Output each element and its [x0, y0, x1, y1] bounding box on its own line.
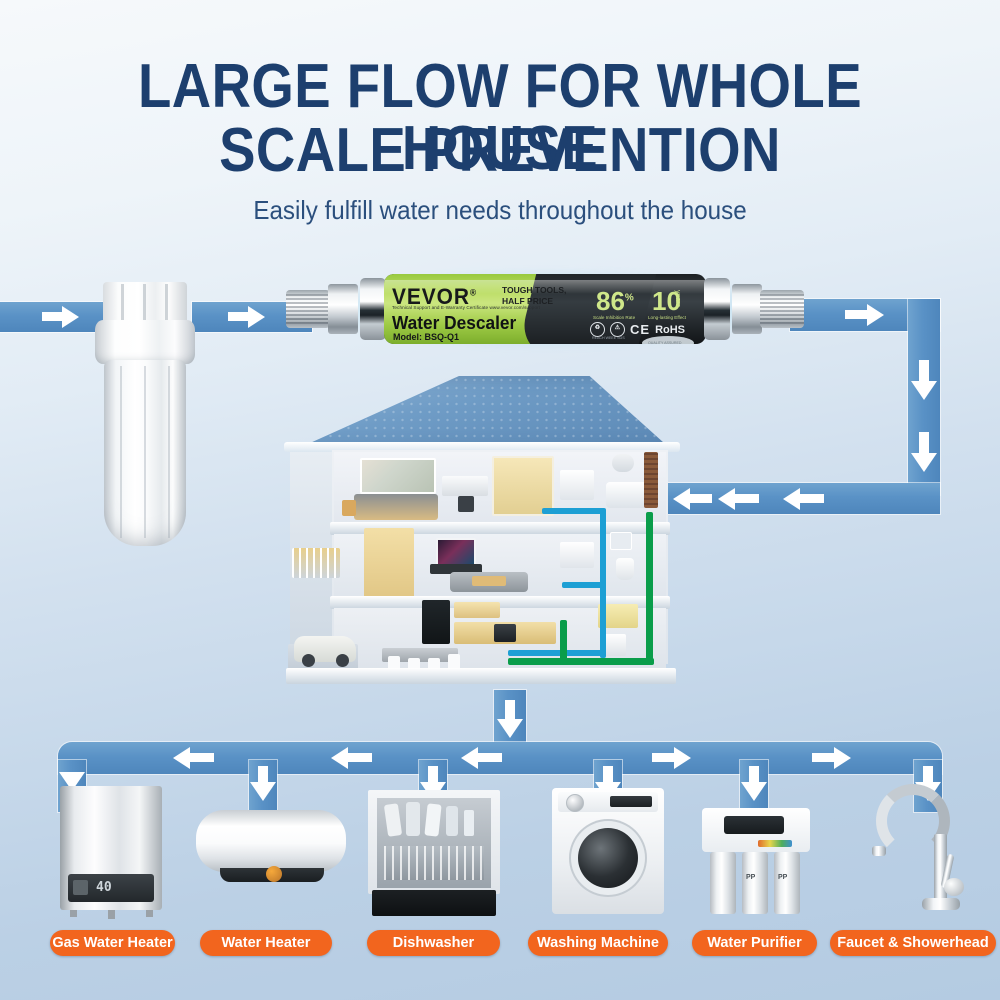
car-wheel	[302, 654, 315, 667]
flow-arrow-left	[783, 488, 800, 510]
stat-1-caption: Scale Inhibition Rate	[593, 315, 635, 320]
arrow-stem	[478, 753, 502, 762]
flow-arrow-down	[741, 782, 767, 801]
faucet-handle-cap	[944, 878, 964, 896]
wp-filter-cartridge	[774, 852, 800, 914]
dw-door-panel	[372, 890, 496, 916]
whole-house-prefilter	[95, 282, 195, 550]
gwh-leg	[146, 910, 153, 917]
nightstand	[342, 500, 356, 516]
outlet-hex-nut	[732, 284, 762, 334]
infographic-canvas: LARGE FLOW FOR WHOLE HOUSE SCALE PREVENT…	[0, 0, 1000, 1000]
product-model-block: Model: BSQ-Q1 Made In China	[393, 332, 459, 344]
brand-tagline: TOUGH TOOLS, HALF PRICE	[502, 285, 566, 306]
tv	[436, 538, 476, 566]
arrow-stem	[42, 312, 64, 321]
dw-lower-rack	[384, 846, 484, 880]
toilet	[616, 558, 634, 580]
appliance-label-water-purifier[interactable]: Water Purifier	[692, 930, 817, 956]
dw-glass	[464, 810, 474, 836]
gwh-temperature-display: 40	[96, 880, 112, 895]
towel-rack	[612, 454, 634, 472]
appliance-label-faucet-showerhead[interactable]: Faucet & Showerhead	[830, 930, 996, 956]
cutaway-house-illustration	[272, 372, 692, 702]
arrow-stem	[690, 494, 712, 503]
bed	[354, 494, 438, 520]
flow-arrow-left	[173, 747, 190, 769]
house-roof	[290, 376, 674, 452]
flow-arrow-down	[250, 782, 276, 801]
flow-arrow-left	[331, 747, 348, 769]
wh-knob	[266, 866, 282, 882]
wp-display	[724, 816, 784, 834]
water-purifier-icon: PP PP	[702, 808, 810, 920]
desk	[442, 476, 488, 496]
water-descaler-device: VEVOR® TOUGH TOOLS, HALF PRICE Technical…	[286, 260, 804, 358]
arrow-stem	[812, 753, 836, 762]
flow-arrow-right	[62, 306, 79, 328]
kitchen-upper-cabinet	[454, 602, 500, 618]
indoor-hot-pipe-bottom	[508, 658, 654, 665]
prefilter-bowl	[104, 360, 186, 546]
coffee-table	[472, 576, 506, 586]
product-name: Water Descaler	[392, 313, 516, 334]
indoor-cold-pipe-branch	[562, 582, 604, 588]
flow-arrow-right	[674, 747, 691, 769]
house-base-slab	[286, 668, 676, 684]
stat-1-value: 86	[596, 286, 625, 316]
device-label-body: VEVOR® TOUGH TOOLS, HALF PRICE Technical…	[384, 274, 706, 344]
gwh-burner-icon	[73, 880, 88, 895]
inlet-chrome-ring	[360, 278, 386, 340]
bathroom-vanity-middle	[560, 542, 594, 568]
wm-dial	[566, 794, 584, 812]
product-origin: Made In China	[393, 343, 459, 344]
flow-arrow-down	[911, 381, 937, 400]
flow-arrow-right	[248, 306, 265, 328]
indoor-hot-pipe-riser	[560, 620, 567, 664]
arrow-stem	[800, 494, 824, 503]
tagline-line-1: TOUGH TOOLS,	[502, 285, 566, 296]
ce-mark: CE	[630, 322, 650, 337]
arrow-stem	[348, 753, 372, 762]
brick-wall-detail	[644, 452, 658, 508]
flow-arrow-right	[834, 747, 851, 769]
indoor-cold-pipe-top	[542, 508, 604, 514]
flow-arrow-left	[461, 747, 478, 769]
flow-arrow-down	[497, 719, 523, 738]
wp-filter-cartridge	[710, 852, 736, 914]
quality-seal-text: QUALITY ASSURED	[648, 341, 682, 344]
arrow-stem	[735, 494, 759, 503]
prefilter-cap	[103, 282, 187, 324]
inlet-hex-nut	[328, 284, 358, 334]
weee-icon: ⚠	[610, 322, 625, 337]
gas-water-heater-icon: 40	[56, 786, 166, 916]
desk-chair	[458, 496, 474, 512]
arrow-stem	[845, 310, 869, 319]
wall-art	[360, 458, 436, 494]
indoor-cold-pipe-lower	[508, 650, 604, 656]
stat-1-unit: %	[625, 292, 634, 303]
support-text: Technical Support and E-Warranty Certifi…	[392, 305, 540, 310]
stat-1-value-group: 86%	[596, 288, 634, 314]
faucet-icon	[862, 780, 972, 920]
gwh-leg	[108, 910, 115, 919]
wm-door	[578, 828, 638, 888]
bathroom-vanity-upper	[560, 470, 594, 500]
wp-cartridge-label: PP	[778, 874, 787, 881]
cert-small-text: REACH WEEE SGS	[592, 336, 625, 340]
arrow-stem	[190, 753, 214, 762]
appliance-label-gas-water-heater[interactable]: Gas Water Heater	[50, 930, 175, 956]
faucet-base	[922, 898, 960, 910]
flow-arrow-down	[911, 453, 937, 472]
certification-marks: ♻ ⚠ CE RoHS	[590, 322, 685, 337]
headline-line-2: SCALE PREVENTION	[60, 120, 940, 182]
washing-machine-icon	[552, 788, 664, 918]
wp-cartridge-label: PP	[746, 874, 755, 881]
wp-filter-cartridge	[742, 852, 768, 914]
stat-2-caption: Long-lasting Effect	[648, 315, 686, 320]
product-model: Model: BSQ-Q1	[393, 332, 459, 343]
oven	[494, 624, 516, 642]
flow-arrow-left	[718, 488, 735, 510]
wh-tank-body	[196, 810, 346, 872]
appliance-label-row: Gas Water Heater Water Heater Dishwasher…	[0, 930, 1000, 956]
refrigerator	[422, 600, 450, 644]
dw-dish	[446, 806, 458, 836]
outlet-thread-nipple	[760, 290, 804, 328]
wp-indicator-strip	[758, 840, 792, 847]
appliance-label-dishwasher[interactable]: Dishwasher	[367, 930, 500, 956]
wardrobe	[492, 456, 554, 516]
indoor-hot-pipe-vertical	[646, 512, 653, 664]
stat-2-unit: years	[674, 290, 681, 307]
appliance-label-washing-machine[interactable]: Washing Machine	[528, 930, 668, 956]
flow-arrow-right	[867, 304, 884, 326]
dishwasher-icon	[368, 790, 500, 918]
rohs-mark: RoHS	[655, 324, 685, 336]
mirror-middle	[610, 532, 632, 550]
gwh-leg	[70, 910, 77, 917]
inlet-thread-nipple	[286, 290, 330, 328]
car-wheel	[336, 654, 349, 667]
recycle-icon: ♻	[590, 322, 605, 337]
registered-mark: ®	[470, 288, 477, 298]
prefilter-collar	[95, 320, 195, 364]
water-heater-icon	[196, 810, 346, 910]
wm-display	[610, 796, 652, 807]
arrow-stem	[228, 312, 250, 321]
arrow-stem	[652, 753, 676, 762]
appliance-label-water-heater[interactable]: Water Heater	[200, 930, 332, 956]
balcony-railing	[292, 548, 340, 578]
outlet-chrome-ring	[704, 278, 730, 340]
dw-dish	[406, 802, 420, 836]
faucet-spout-tip	[872, 846, 886, 856]
subtitle: Easily fulfill water needs throughout th…	[35, 195, 965, 226]
